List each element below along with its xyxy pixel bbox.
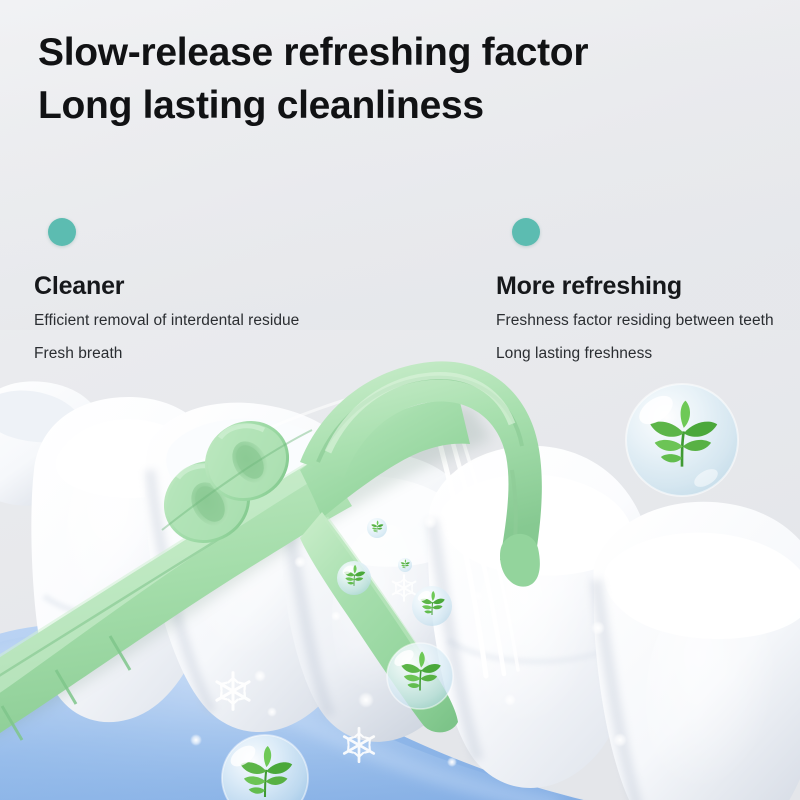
mint-bubble-tiny-2 <box>398 558 412 572</box>
mint-bubble-small-1 <box>337 561 371 595</box>
feature-line-cleaner-2: Fresh breath <box>34 345 299 363</box>
dot-bullet-icon <box>48 218 76 246</box>
page-title: Slow-release refreshing factor Long last… <box>38 26 588 132</box>
mint-bubble-medium-1 <box>387 643 453 709</box>
product-banner: Slow-release refreshing factor Long last… <box>0 0 800 800</box>
dot-bullet-icon <box>512 218 540 246</box>
mint-bubble-large <box>626 384 738 496</box>
feature-title-cleaner: Cleaner <box>34 272 299 301</box>
headline-line-1: Slow-release refreshing factor <box>38 31 588 74</box>
feature-line-cleaner-1: Efficient removal of interdental residue <box>34 312 299 330</box>
feature-block-more-refreshing: More refreshing Freshness factor residin… <box>496 218 774 363</box>
mint-bubble-tiny-1 <box>367 518 387 538</box>
feature-title-more-refreshing: More refreshing <box>496 272 774 301</box>
feature-line-more-refreshing-2: Long lasting freshness <box>496 345 774 363</box>
headline-line-2: Long lasting cleanliness <box>38 79 588 132</box>
feature-block-cleaner: Cleaner Efficient removal of interdental… <box>34 218 299 363</box>
feature-line-more-refreshing-1: Freshness factor residing between teeth <box>496 312 774 330</box>
mint-bubble-small-2 <box>412 586 452 626</box>
